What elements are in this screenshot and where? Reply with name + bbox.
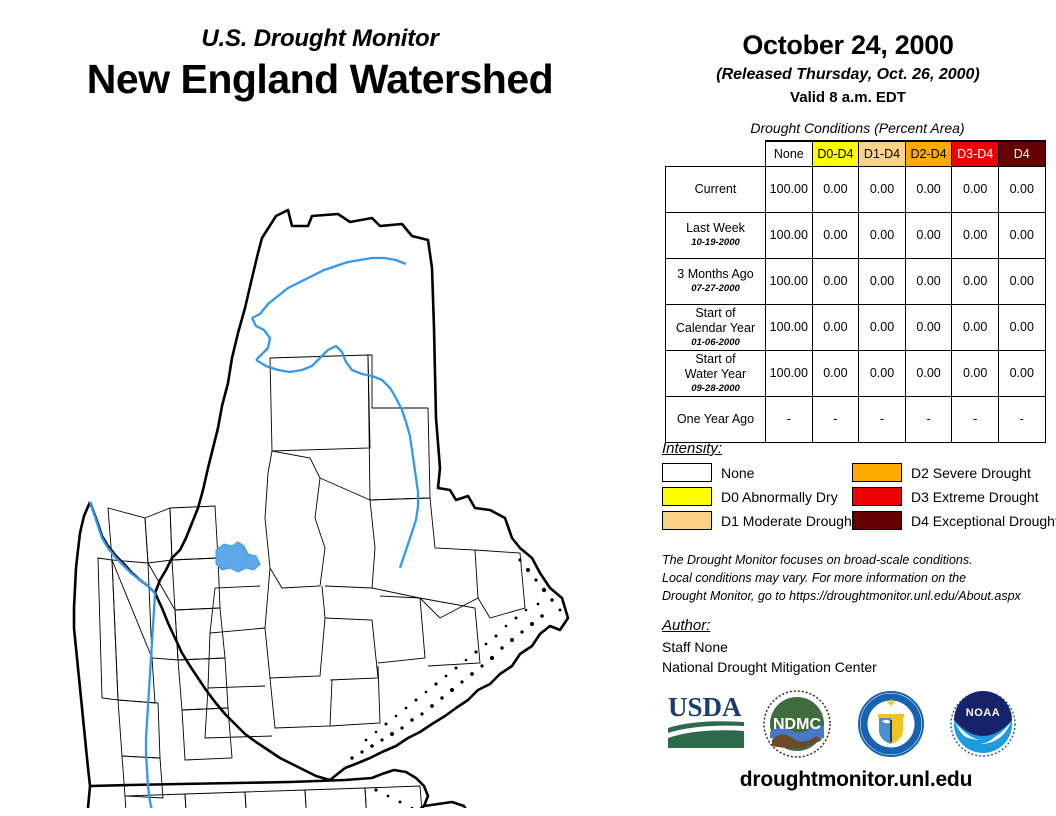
legend-item: D4 Exceptional Drought xyxy=(852,511,1052,530)
column-header-d4: D4 xyxy=(998,141,1045,166)
table-cell: 100.00 xyxy=(766,258,813,304)
logo-row: USDA NDMC xyxy=(656,688,1056,768)
table-cell: 0.00 xyxy=(998,166,1045,212)
table-cell: - xyxy=(998,396,1045,442)
table-cell: 0.00 xyxy=(998,258,1045,304)
table-cell: - xyxy=(812,396,859,442)
legend-label: D3 Extreme Drought xyxy=(911,489,1039,505)
table-cell: 0.00 xyxy=(859,212,906,258)
page-main-title: New England Watershed xyxy=(0,56,640,103)
table-body: Current100.000.000.000.000.000.00Last We… xyxy=(666,166,1046,442)
lake-winnipesaukee xyxy=(216,542,260,572)
disclaimer-line-1: The Drought Monitor focuses on broad-sca… xyxy=(662,552,1056,570)
legend-item: D3 Extreme Drought xyxy=(852,487,1052,506)
disclaimer-text: The Drought Monitor focuses on broad-sca… xyxy=(662,552,1056,605)
row-label: 3 Months Ago07-27-2000 xyxy=(666,258,766,304)
row-label-line: Current xyxy=(666,182,765,197)
report-date: October 24, 2000 xyxy=(648,30,1048,61)
noaa-logo: NOAA xyxy=(946,688,1020,765)
table-cell: 0.00 xyxy=(812,212,859,258)
table-row: Current100.000.000.000.000.000.00 xyxy=(666,166,1046,212)
row-date: 09-28-2000 xyxy=(666,383,765,394)
svg-text:NDMC: NDMC xyxy=(773,716,821,733)
table-cell: - xyxy=(952,396,999,442)
release-date: (Released Thursday, Oct. 26, 2000) xyxy=(648,66,1048,84)
table-cell: 0.00 xyxy=(952,350,999,396)
table-cell: - xyxy=(859,396,906,442)
table-cell: 100.00 xyxy=(766,166,813,212)
date-block: October 24, 2000 (Released Thursday, Oct… xyxy=(648,30,1048,106)
column-header-d0d4: D0-D4 xyxy=(812,141,859,166)
column-header-none: None xyxy=(766,141,813,166)
table-row: One Year Ago------ xyxy=(666,396,1046,442)
info-panel: October 24, 2000 (Released Thursday, Oct… xyxy=(648,0,1056,816)
row-label: Last Week10-19-2000 xyxy=(666,212,766,258)
disclaimer-line-3: Drought Monitor, go to https://droughtmo… xyxy=(662,588,1056,606)
row-label-line: Water Year xyxy=(666,367,765,382)
table-cell: 0.00 xyxy=(998,304,1045,350)
row-label-line: Calendar Year xyxy=(666,321,765,336)
legend-swatch xyxy=(852,511,902,530)
table-cell: 0.00 xyxy=(812,304,859,350)
table-cell: 0.00 xyxy=(859,166,906,212)
map-panel: U.S. Drought Monitor New England Watersh… xyxy=(0,0,640,816)
county-boundaries xyxy=(98,355,525,808)
table-cell: 0.00 xyxy=(998,350,1045,396)
row-label-line: 3 Months Ago xyxy=(666,267,765,282)
page-title: U.S. Drought Monitor New England Watersh… xyxy=(0,26,640,104)
row-date: 10-19-2000 xyxy=(666,237,765,248)
table-cell: 0.00 xyxy=(859,304,906,350)
legend-item: D0 Abnormally Dry xyxy=(662,487,852,506)
author-name: Staff None xyxy=(662,637,1056,657)
legend-label: None xyxy=(721,465,754,481)
department-of-commerce-seal xyxy=(854,688,928,765)
intensity-legend-title: Intensity: xyxy=(662,440,1052,457)
legend-swatch xyxy=(662,463,712,482)
page-subtitle: U.S. Drought Monitor xyxy=(0,26,640,52)
rivers-and-lakes xyxy=(90,258,418,808)
legend-label: D0 Abnormally Dry xyxy=(721,489,838,505)
ndmc-logo: NDMC xyxy=(760,688,834,765)
table-cell: 0.00 xyxy=(952,166,999,212)
table-cell: - xyxy=(766,396,813,442)
row-label: Start ofWater Year09-28-2000 xyxy=(666,350,766,396)
table-cell: 100.00 xyxy=(766,304,813,350)
coastal-islands xyxy=(325,558,562,808)
table-cell: 0.00 xyxy=(905,166,952,212)
table-cell: - xyxy=(905,396,952,442)
row-date: 01-06-2000 xyxy=(666,337,765,348)
disclaimer-line-2: Local conditions may vary. For more info… xyxy=(662,570,1056,588)
svg-text:USDA: USDA xyxy=(668,692,742,722)
row-label-line: Start of xyxy=(666,306,765,321)
table-cell: 0.00 xyxy=(905,212,952,258)
row-date: 07-27-2000 xyxy=(666,283,765,294)
drought-map[interactable] xyxy=(20,118,630,808)
table-cell: 100.00 xyxy=(766,212,813,258)
intensity-legend: Intensity: NoneD2 Severe DroughtD0 Abnor… xyxy=(662,440,1052,530)
table-header-row: None D0-D4 D1-D4 D2-D4 D3-D4 D4 xyxy=(666,141,1046,166)
table-caption: Drought Conditions (Percent Area) xyxy=(665,120,1050,136)
table-cell: 100.00 xyxy=(766,350,813,396)
author-organization: National Drought Mitigation Center xyxy=(662,657,1056,677)
table-row: 3 Months Ago07-27-2000100.000.000.000.00… xyxy=(666,258,1046,304)
table-cell: 0.00 xyxy=(905,304,952,350)
legend-item: D2 Severe Drought xyxy=(852,463,1052,482)
table-cell: 0.00 xyxy=(952,212,999,258)
legend-swatch xyxy=(662,487,712,506)
valid-time: Valid 8 a.m. EDT xyxy=(648,89,1048,106)
table-cell: 0.00 xyxy=(952,304,999,350)
table-row: Start ofWater Year09-28-2000100.000.000.… xyxy=(666,350,1046,396)
table-cell: 0.00 xyxy=(812,166,859,212)
column-header-d3d4: D3-D4 xyxy=(952,141,999,166)
table-corner-cell xyxy=(666,141,766,166)
author-block: Author: Staff None National Drought Miti… xyxy=(662,617,1056,678)
legend-item: None xyxy=(662,463,852,482)
column-header-d2d4: D2-D4 xyxy=(905,141,952,166)
row-label-line: Start of xyxy=(666,352,765,367)
website-url[interactable]: droughtmonitor.unl.edu xyxy=(656,768,1056,792)
row-label: Current xyxy=(666,166,766,212)
table-cell: 0.00 xyxy=(812,350,859,396)
table-row: Last Week10-19-2000100.000.000.000.000.0… xyxy=(666,212,1046,258)
table-cell: 0.00 xyxy=(952,258,999,304)
author-label: Author: xyxy=(662,617,1056,634)
legend-swatch xyxy=(852,487,902,506)
drought-conditions-table: None D0-D4 D1-D4 D2-D4 D3-D4 D4 Current1… xyxy=(665,140,1046,443)
row-label-line: Last Week xyxy=(666,221,765,236)
table-cell: 0.00 xyxy=(998,212,1045,258)
table-row: Start ofCalendar Year01-06-2000100.000.0… xyxy=(666,304,1046,350)
table-cell: 0.00 xyxy=(905,350,952,396)
legend-grid: NoneD2 Severe DroughtD0 Abnormally DryD3… xyxy=(662,463,1052,530)
legend-label: D4 Exceptional Drought xyxy=(911,513,1056,529)
table-cell: 0.00 xyxy=(905,258,952,304)
legend-label: D2 Severe Drought xyxy=(911,465,1031,481)
legend-item: D1 Moderate Drought xyxy=(662,511,852,530)
table-cell: 0.00 xyxy=(859,258,906,304)
row-label: Start ofCalendar Year01-06-2000 xyxy=(666,304,766,350)
row-label-line: One Year Ago xyxy=(666,412,765,427)
usda-logo: USDA xyxy=(666,688,748,755)
table-cell: 0.00 xyxy=(859,350,906,396)
legend-swatch xyxy=(662,511,712,530)
legend-swatch xyxy=(852,463,902,482)
row-label: One Year Ago xyxy=(666,396,766,442)
legend-label: D1 Moderate Drought xyxy=(721,513,856,529)
column-header-d1d4: D1-D4 xyxy=(859,141,906,166)
svg-text:NOAA: NOAA xyxy=(966,707,1000,719)
table-cell: 0.00 xyxy=(812,258,859,304)
